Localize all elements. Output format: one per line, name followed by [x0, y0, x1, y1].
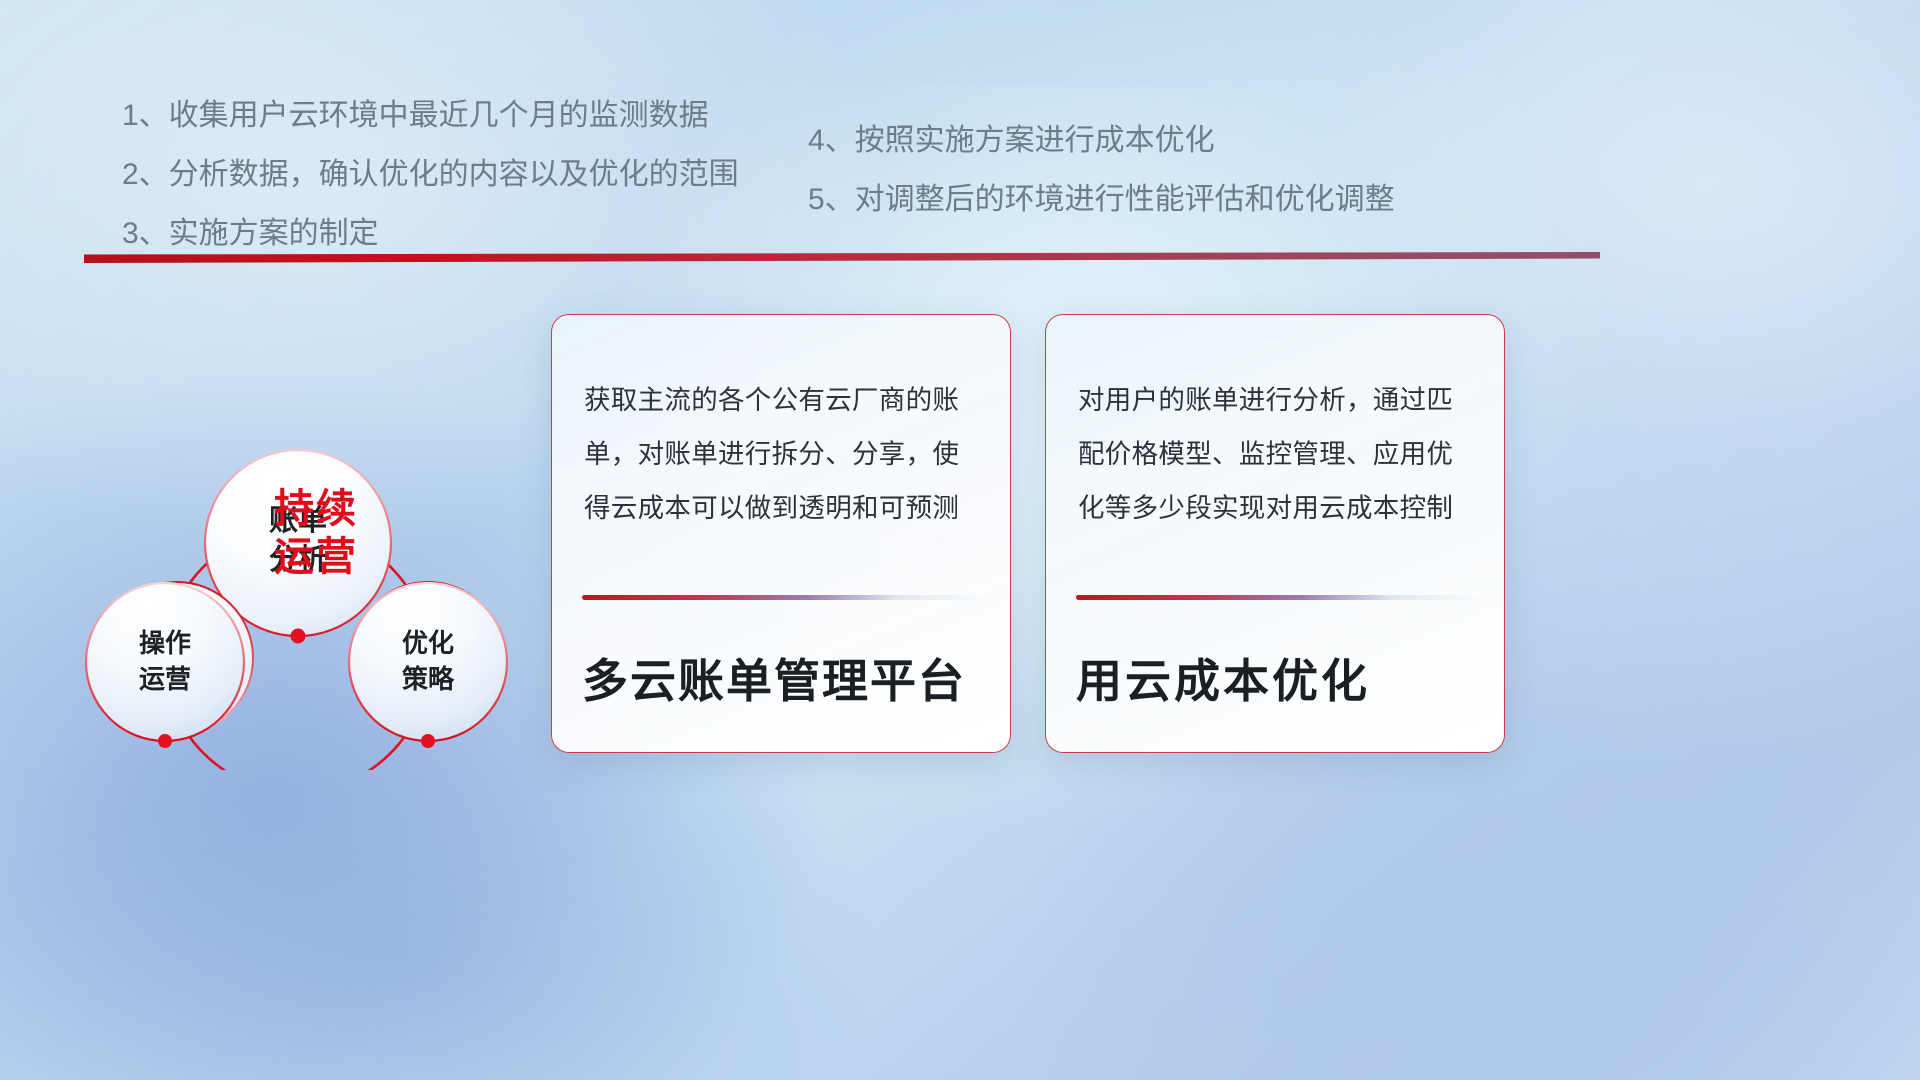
card-1-divider	[582, 595, 988, 600]
diagram-node2-label-line1: 操作	[139, 628, 191, 658]
slide-canvas: 1、收集用户云环境中最近几个月的监测数据 2、分析数据，确认优化的内容以及优化的…	[0, 0, 1920, 1080]
red-divider-rule	[84, 252, 1600, 264]
card-cloud-cost-optimization[interactable]: 对用户的账单进行分析，通过匹配价格模型、监控管理、应用优化等多少段实现对用云成本…	[1045, 314, 1505, 753]
diagram-node-operations-group[interactable]: 操作 运营	[86, 583, 244, 748]
card-multicloud-billing-platform[interactable]: 获取主流的各个公有云厂商的账单，对账单进行拆分、分享，使得云成本可以做到透明和可…	[551, 314, 1011, 753]
diagram-node2-label-line2: 运营	[139, 664, 191, 694]
step-item-3: 3、实施方案的制定	[122, 219, 739, 249]
node-connector-dot-right	[421, 734, 435, 748]
step-item-5: 5、对调整后的环境进行性能评估和优化调整	[808, 185, 1395, 215]
card-1-title: 多云账单管理平台	[582, 645, 988, 711]
diagram-node3-label-line2: 策略	[402, 664, 455, 694]
step-item-4: 4、按照实施方案进行成本优化	[808, 126, 1395, 156]
diagram-node3-label-line1: 优化	[402, 628, 454, 658]
card-2-divider	[1076, 595, 1482, 600]
steps-left-column: 1、收集用户云环境中最近几个月的监测数据 2、分析数据，确认优化的内容以及优化的…	[122, 101, 739, 249]
card-2-title: 用云成本优化	[1076, 645, 1482, 711]
step-item-1: 1、收集用户云环境中最近几个月的监测数据	[122, 101, 739, 131]
card-2-body: 对用户的账单进行分析，通过匹配价格模型、监控管理、应用优化等多少段实现对用云成本…	[1078, 373, 1476, 535]
diagram-center-label-line1: 持续	[236, 485, 396, 533]
step-item-2: 2、分析数据，确认优化的内容以及优化的范围	[122, 160, 739, 190]
diagram-lower-nodes: 操作 运营 优化 策略	[80, 560, 540, 780]
diagram-center-label-line2: 运营	[236, 533, 396, 581]
card-1-body: 获取主流的各个公有云厂商的账单，对账单进行拆分、分享，使得云成本可以做到透明和可…	[584, 373, 982, 535]
node-connector-dot-left	[158, 734, 172, 748]
steps-right-column: 4、按照实施方案进行成本优化 5、对调整后的环境进行性能评估和优化调整	[808, 126, 1395, 215]
diagram-center-label: 持续 运营	[236, 485, 396, 581]
diagram-node-strategy-group[interactable]: 优化 策略	[349, 583, 507, 748]
